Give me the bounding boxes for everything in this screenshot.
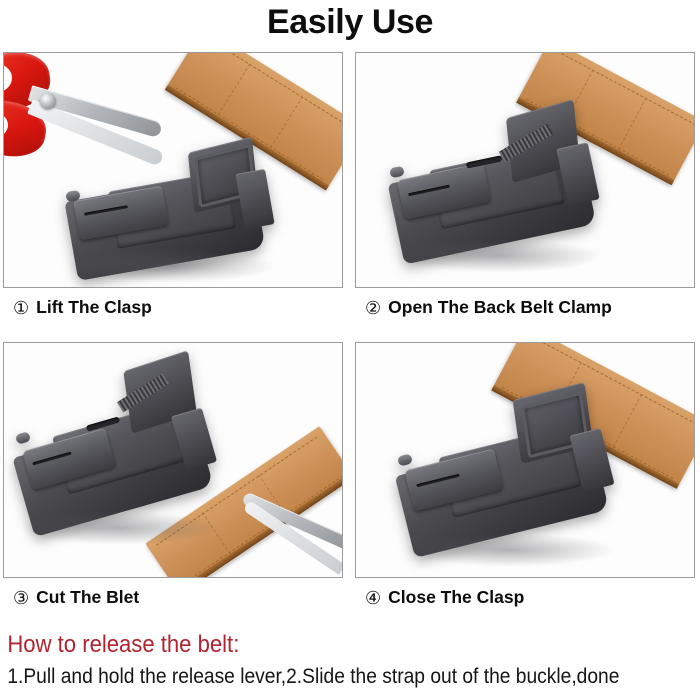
step-label-1: Lift The Clasp xyxy=(36,297,152,318)
scissor-pivot-screw xyxy=(40,93,56,109)
step-image-3 xyxy=(3,342,343,578)
step-number-3: ③ xyxy=(13,589,29,607)
step-image-2 xyxy=(355,52,695,288)
drop-shadow xyxy=(66,249,276,283)
lever-pin xyxy=(15,431,31,444)
step-caption-4: ④ Close The Clasp xyxy=(355,587,695,608)
step-label-3: Cut The Blet xyxy=(36,587,139,608)
step-label-2: Open The Back Belt Clamp xyxy=(388,297,612,318)
steps-grid: ① Lift The Clasp xyxy=(0,50,700,630)
step-caption-2: ② Open The Back Belt Clamp xyxy=(355,297,695,318)
lever-pin xyxy=(397,453,413,466)
step-card-2: ② Open The Back Belt Clamp xyxy=(355,52,695,318)
release-instructions-body: 1.Pull and hold the release lever,2.Slid… xyxy=(0,664,641,690)
stitch-seam xyxy=(270,97,302,148)
drop-shadow xyxy=(404,533,616,567)
step-caption-3: ③ Cut The Blet xyxy=(3,587,343,608)
step-caption-1: ① Lift The Clasp xyxy=(3,297,343,318)
release-instructions: How to release the belt: 1.Pull and hold… xyxy=(0,630,700,690)
drop-shadow xyxy=(20,511,220,545)
step-number-1: ① xyxy=(13,299,29,317)
step-card-1: ① Lift The Clasp xyxy=(3,52,343,318)
scene-close-the-clasp xyxy=(356,343,694,577)
step-image-4 xyxy=(355,342,695,578)
release-instructions-heading: How to release the belt: xyxy=(0,630,644,660)
step-card-4: ④ Close The Clasp xyxy=(355,342,695,608)
lever-pin xyxy=(389,166,405,179)
page-title: Easily Use xyxy=(0,2,700,42)
step-image-1 xyxy=(3,52,343,288)
scene-lift-the-clasp xyxy=(4,53,342,287)
scissors xyxy=(244,465,343,575)
scissors xyxy=(3,52,198,189)
step-number-4: ④ xyxy=(365,589,381,607)
stitch-seam xyxy=(218,64,250,115)
step-card-3: ③ Cut The Blet xyxy=(3,342,343,608)
stitch-seam xyxy=(618,98,646,149)
drop-shadow xyxy=(396,239,604,273)
step-number-2: ② xyxy=(365,299,381,317)
belt-buckle xyxy=(390,101,620,261)
step-label-4: Close The Clasp xyxy=(388,587,524,608)
scene-open-the-back-belt-clamp xyxy=(356,53,694,287)
scene-cut-the-belt xyxy=(4,343,342,577)
belt-buckle xyxy=(398,377,628,547)
